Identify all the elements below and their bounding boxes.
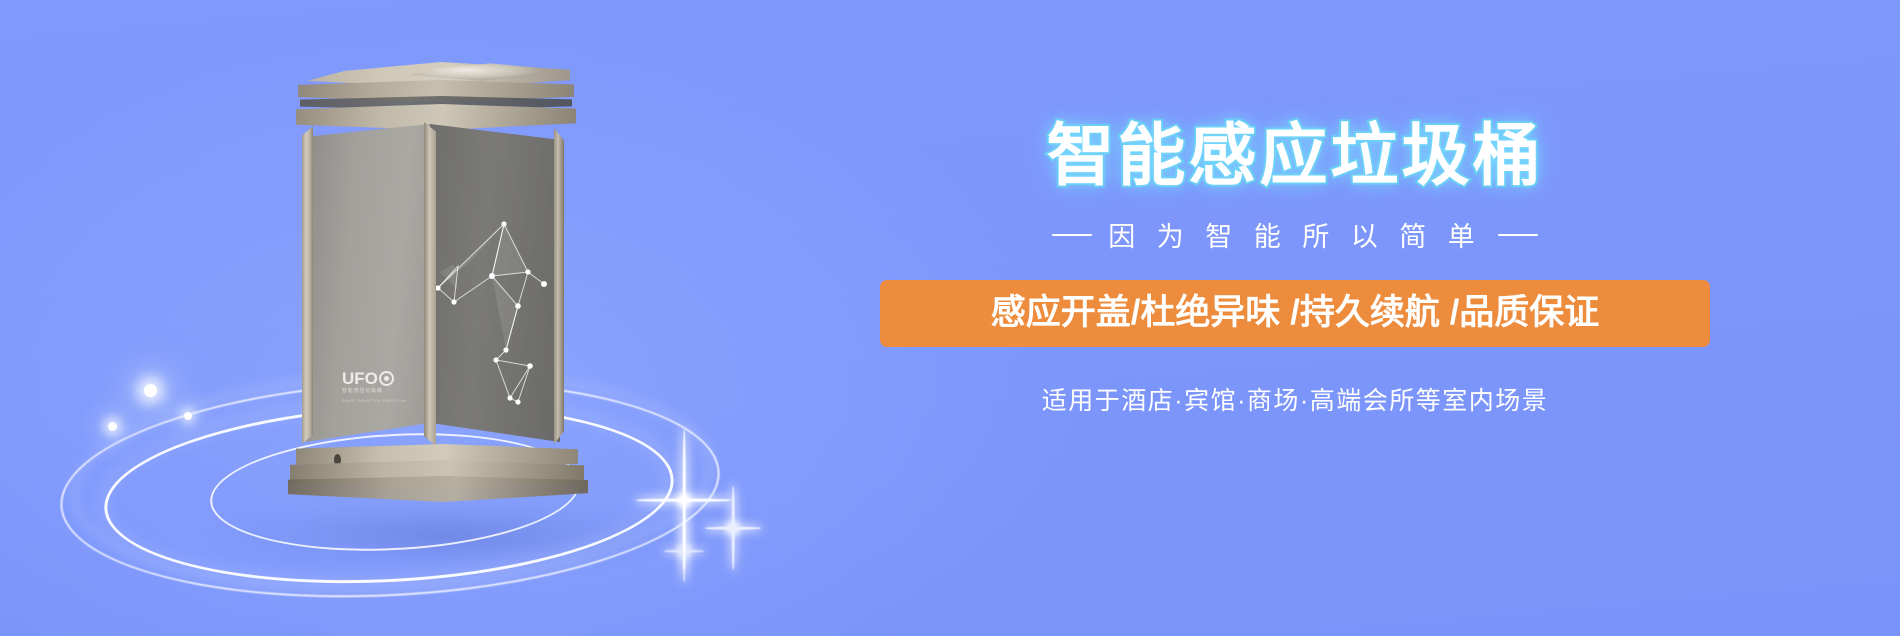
product-stage: UFO 智能感应垃圾桶 SMART INDUCTION TRASH CAN (0, 0, 760, 636)
bin-edge-center (424, 122, 436, 446)
subheadline: 因 为 智 能 所 以 简 单 (880, 215, 1710, 254)
brand-logo-mark: UFO (342, 370, 416, 387)
brand-logo: UFO 智能感应垃圾桶 SMART INDUCTION TRASH CAN (342, 370, 416, 404)
promo-banner: UFO 智能感应垃圾桶 SMART INDUCTION TRASH CAN 智能… (0, 0, 1900, 636)
glow-dot-icon (184, 412, 192, 420)
copy-block: 智能感应垃圾桶 因 为 智 能 所 以 简 单 感应开盖/杜绝异味 /持久续航 … (880, 120, 1710, 417)
bin-edge-left (302, 126, 313, 444)
glow-dot-icon (144, 384, 157, 397)
dash-left-icon (1052, 234, 1092, 237)
bin-edge-right (554, 128, 564, 444)
product-image-trash-bin: UFO 智能感应垃圾桶 SMART INDUCTION TRASH CAN (288, 62, 588, 522)
brand-logo-text: UFO (342, 370, 378, 387)
usage-scenarios-note: 适用于酒店·宾馆·商场·高端会所等室内场景 (880, 381, 1710, 417)
subheadline-text: 因 为 智 能 所 以 简 单 (1108, 215, 1482, 254)
bin-base-lower (288, 476, 588, 502)
low-poly-network-graphic (432, 210, 558, 436)
bin-body: UFO 智能感应垃圾桶 SMART INDUCTION TRASH CAN (306, 124, 568, 462)
glow-dot-icon (108, 422, 117, 431)
brand-logo-cn: 智能感应垃圾桶 (342, 389, 416, 395)
brand-logo-ring-icon (379, 371, 394, 386)
feature-badge: 感应开盖/杜绝异味 /持久续航 /品质保证 (880, 280, 1710, 346)
headline: 智能感应垃圾桶 (880, 120, 1710, 193)
dash-right-icon (1498, 234, 1538, 237)
brand-logo-tagline: SMART INDUCTION TRASH CAN (342, 399, 414, 404)
